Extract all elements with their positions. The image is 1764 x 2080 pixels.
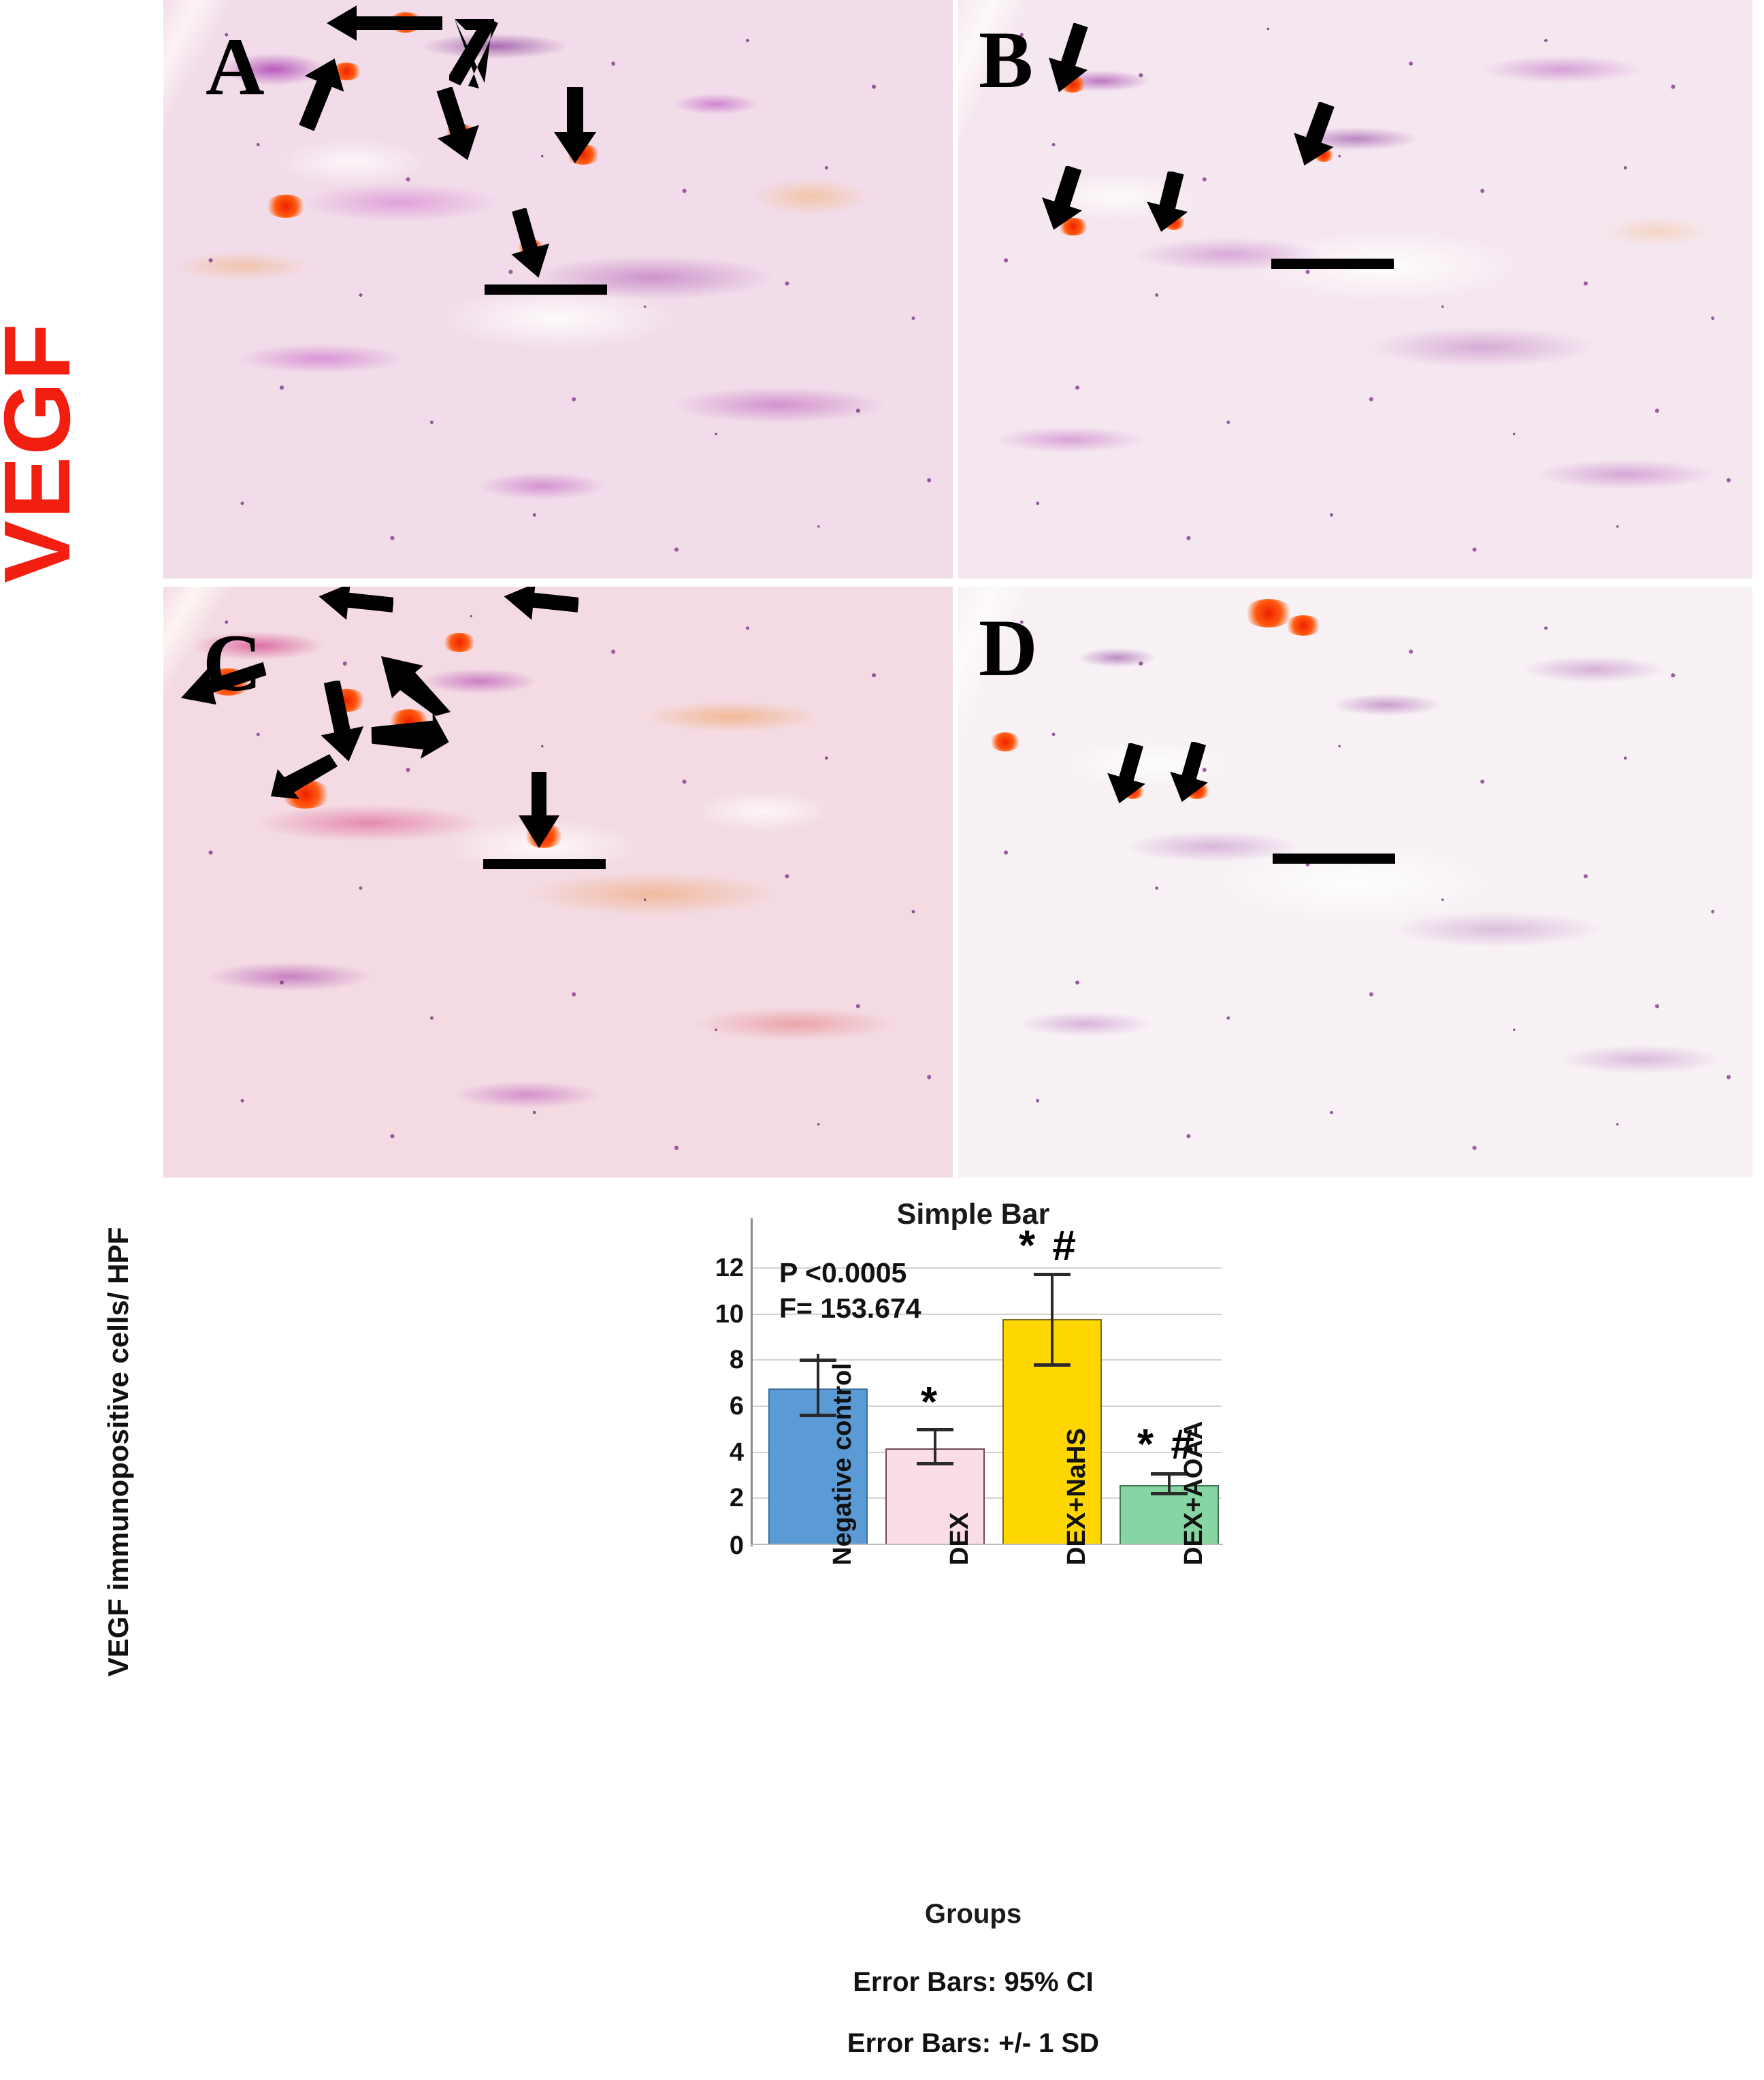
pointer-arrow [367,713,449,768]
y-tick-label: 6 [683,1393,744,1419]
y-tick-label: 10 [683,1301,744,1327]
pointer-arrow [551,87,599,163]
pointer-arrow [1166,742,1214,803]
x-axis-title: Groups [783,1899,1164,1930]
x-tick-label-negative-control: Negative control [828,1363,857,1565]
significance-marker-dex-nahs: * # [1019,1222,1079,1270]
error-bar-cap [1034,1363,1071,1367]
micrograph-panel-a: A [163,0,953,579]
y-axis-line [751,1218,753,1546]
x-axis-line [751,1544,1223,1545]
error-bar [1168,1474,1171,1495]
pointer-arrow [271,754,339,807]
bar-chart: Simple Bar VEGF immunopositive cells/ HP… [0,1177,1764,2080]
error-bar [817,1354,819,1416]
scale-bar [1271,259,1394,269]
pointer-arrow [1045,23,1094,94]
plot-area: P <0.0005 F= 153.674 * * # * # [752,1246,1222,1545]
micrograph-panel-b: B [958,0,1752,579]
pointer-arrow [178,655,267,709]
pointer-arrow [1143,172,1194,233]
micrograph-panel-c: C [163,587,953,1177]
y-tick-label: 0 [683,1533,744,1559]
y-tick-label: 2 [683,1485,744,1511]
x-tick-label-dex-nahs: DEX+NaHS [1062,1428,1092,1565]
error-bar [934,1430,936,1465]
y-tick-label: 4 [683,1440,744,1465]
error-bar-cap [917,1462,953,1465]
pointer-arrow [318,587,393,626]
scale-bar [483,859,606,869]
y-tick-label: 12 [683,1255,744,1281]
vegf-stain-label: VEGF [0,214,82,691]
x-tick-label-dex-aoaa: DEX+AOAA [1179,1421,1209,1565]
figure-root: VEGF A [0,0,1764,2080]
pointer-arrow [1290,102,1341,167]
pointer-arrow [449,18,504,93]
vegf-positive-foci [958,587,1752,1177]
chart-title: Simple Bar [783,1198,1164,1231]
error-bar-cap [1034,1273,1071,1276]
significance-marker-dex: * [921,1378,940,1427]
pointer-arrow [313,681,367,762]
pointer-arrow [297,56,344,131]
pointer-arrow [505,208,553,279]
micrograph-panel-grid: A B [163,0,1752,1177]
vegf-positive-foci [163,587,953,1177]
stats-annotation: P <0.0005 F= 153.674 [779,1255,921,1327]
pointer-arrow [430,87,482,162]
error-bar [1051,1273,1053,1365]
error-bar-cap [800,1359,836,1362]
pointer-arrow [380,653,455,716]
scale-bar [1273,854,1395,864]
pointer-arrow [1039,166,1089,231]
panel-letter-a: A [206,26,265,108]
pointer-arrow [504,587,578,626]
panel-letter-d: D [979,607,1038,689]
panel-letter-b: B [979,19,1033,101]
micrograph-panel-d: D [958,587,1752,1177]
y-tick-label: 8 [683,1347,744,1373]
plot-frame: P <0.0005 F= 153.674 * * # * # 12 10 8 6… [752,1246,1222,1545]
error-bars-note-ci: Error Bars: 95% CI [497,1967,1450,1998]
y-axis-title: VEGF immunopositive cells/ HPF [102,1180,140,1724]
pointer-arrow [327,3,442,44]
scale-bar [485,285,607,295]
x-tick-label-dex: DEX [945,1512,975,1565]
pointer-arrow [514,772,563,848]
pointer-arrow [1104,743,1151,805]
p-value-text: P <0.0005 [779,1255,921,1290]
error-bar-cap [917,1428,953,1431]
f-value-text: F= 153.674 [779,1290,921,1326]
error-bars-note-sd: Error Bars: +/- 1 SD [497,2028,1450,2059]
